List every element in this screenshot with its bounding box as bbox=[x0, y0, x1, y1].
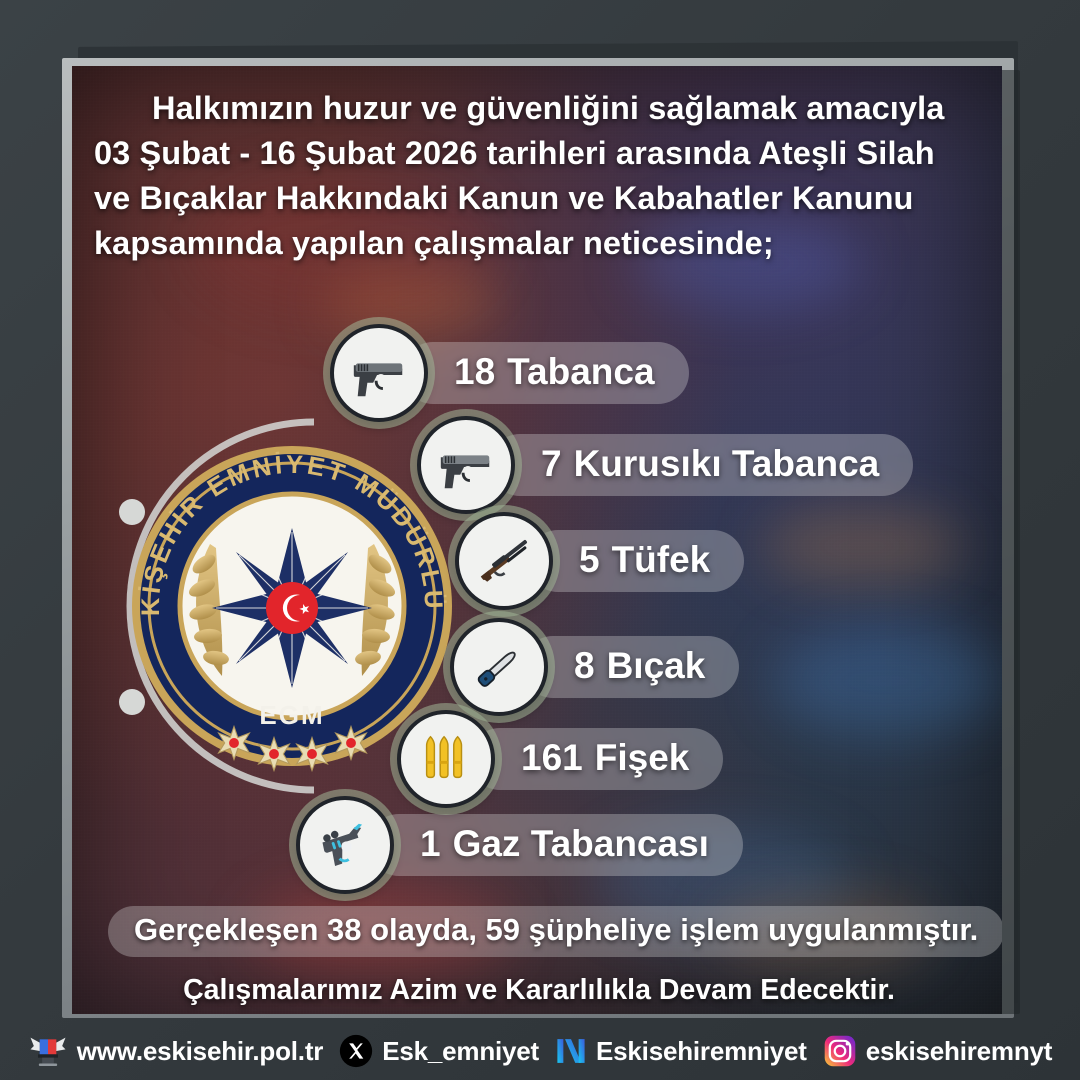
headline-line-1-text: Halkımızın huzur ve güvenliğini sağlamak… bbox=[152, 90, 944, 126]
item-count: 7 bbox=[541, 443, 562, 485]
bullets-icon bbox=[397, 710, 495, 808]
item-label: Gaz Tabancası bbox=[453, 823, 709, 865]
blank-pistol-icon bbox=[417, 416, 515, 514]
headline-line-2: 03 Şubat - 16 Şubat 2026 tarihleri arası… bbox=[94, 131, 984, 176]
svg-text:EGM: EGM bbox=[259, 700, 324, 730]
headline-line-3: ve Bıçaklar Hakkındaki Kanun ve Kabahatl… bbox=[94, 176, 984, 221]
instagram-label: eskisehiremnyt bbox=[866, 1036, 1053, 1067]
website-label: www.eskisehir.pol.tr bbox=[77, 1036, 323, 1067]
item-label: Fişek bbox=[595, 737, 690, 779]
headline-line-4: kapsamında yapılan çalışmalar neticesind… bbox=[94, 221, 984, 266]
item-pill: 1 Gaz Tabancası bbox=[368, 814, 743, 876]
social-item-n[interactable]: Eskisehiremniyet bbox=[555, 1034, 807, 1068]
item-pill: 7 Kurusıkı Tabanca bbox=[489, 434, 913, 496]
poster-card: Halkımızın huzur ve güvenliğini sağlamak… bbox=[72, 66, 1002, 1014]
social-item-x[interactable]: Esk_emniyet bbox=[339, 1034, 539, 1068]
n-logo-icon bbox=[555, 1034, 587, 1068]
gas-pistol-icon bbox=[296, 796, 394, 894]
police-lightbar-icon bbox=[28, 1034, 68, 1068]
headline-line-1: Halkımızın huzur ve güvenliğini sağlamak… bbox=[94, 86, 984, 131]
x-twitter-icon bbox=[339, 1034, 373, 1068]
list-item: 7 Kurusıkı Tabanca bbox=[417, 416, 913, 514]
item-pill: 5 Tüfek bbox=[527, 530, 744, 592]
headline-block: Halkımızın huzur ve güvenliğini sağlamak… bbox=[94, 86, 984, 265]
item-count: 161 bbox=[521, 737, 583, 779]
item-label: Tabanca bbox=[507, 351, 654, 393]
bokeh-light bbox=[762, 506, 962, 586]
item-count: 8 bbox=[574, 645, 595, 687]
list-item: 161 Fişek bbox=[397, 710, 723, 808]
item-pill: 161 Fişek bbox=[469, 728, 723, 790]
pistol-icon bbox=[330, 324, 428, 422]
rifle-icon bbox=[455, 512, 553, 610]
item-count: 5 bbox=[579, 539, 600, 581]
social-item-website[interactable]: www.eskisehir.pol.tr bbox=[28, 1034, 323, 1068]
item-pill: 18 Tabanca bbox=[402, 342, 689, 404]
list-item: 8 Bıçak bbox=[450, 618, 739, 716]
poster-stage: Halkımızın huzur ve güvenliğini sağlamak… bbox=[0, 0, 1080, 1080]
list-item: 5 Tüfek bbox=[455, 512, 744, 610]
n-label: Eskisehiremniyet bbox=[596, 1036, 807, 1067]
x-label: Esk_emniyet bbox=[382, 1036, 539, 1067]
motto-text: Çalışmalarımız Azim ve Kararlılıkla Deva… bbox=[108, 974, 970, 1007]
bokeh-light bbox=[772, 626, 1002, 736]
item-count: 18 bbox=[454, 351, 495, 393]
item-pill: 8 Bıçak bbox=[522, 636, 739, 698]
summary-pill: Gerçekleşen 38 olayda, 59 şüpheliye işle… bbox=[108, 906, 1002, 957]
knife-icon bbox=[450, 618, 548, 716]
social-item-instagram[interactable]: eskisehiremnyt bbox=[823, 1034, 1053, 1068]
list-item: 18 Tabanca bbox=[330, 324, 689, 422]
instagram-icon bbox=[823, 1034, 857, 1068]
summary-row: Gerçekleşen 38 olayda, 59 şüpheliye işle… bbox=[108, 906, 970, 957]
social-bar: www.eskisehir.pol.tr Esk_emniyet Eskiseh bbox=[0, 1022, 1080, 1080]
item-label: Kurusıkı Tabanca bbox=[574, 443, 880, 485]
item-label: Bıçak bbox=[607, 645, 706, 687]
item-count: 1 bbox=[420, 823, 441, 865]
list-item: 1 Gaz Tabancası bbox=[296, 796, 743, 894]
item-label: Tüfek bbox=[612, 539, 711, 581]
